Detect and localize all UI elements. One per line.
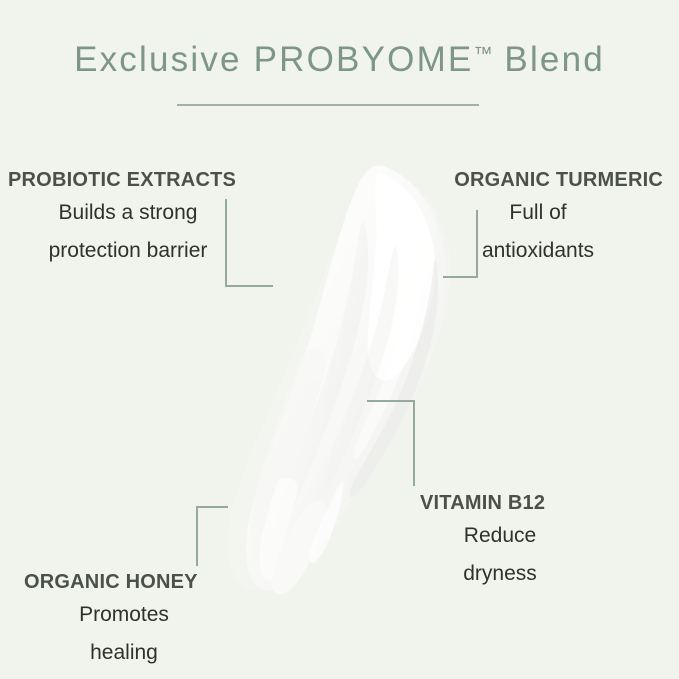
page-title-prefix: Exclusive PROBYOME [74, 40, 473, 79]
callout-vitamin-b12: VITAMIN B12 Reduce dryness [420, 491, 580, 591]
callout-heading: PROBIOTIC EXTRACTS [8, 168, 248, 192]
trademark-symbol: ™ [473, 44, 492, 65]
callout-body-line-2: healing [24, 636, 224, 670]
callout-heading: VITAMIN B12 [420, 491, 580, 515]
connector-segment-vertical [196, 506, 198, 566]
page-title-suffix: Blend [492, 40, 604, 79]
callout-body-line-1: Promotes [24, 598, 224, 632]
connector-segment-horizontal [225, 285, 273, 287]
callout-body-line-2: antioxidants [413, 234, 663, 268]
connector-segment-horizontal [443, 276, 478, 278]
ingredient-infographic: Exclusive PROBYOME™ Blend [0, 0, 679, 679]
connector-line-vitamin-b12 [367, 400, 417, 488]
callout-heading: ORGANIC TURMERIC [413, 168, 663, 192]
callout-heading: ORGANIC HONEY [24, 570, 224, 594]
connector-segment-vertical [413, 400, 415, 486]
callout-body-line-1: Builds a strong [8, 196, 248, 230]
callout-organic-turmeric: ORGANIC TURMERIC Full of antioxidants [413, 168, 663, 268]
callout-body-line-1: Reduce [420, 519, 580, 553]
callout-body-line-2: dryness [420, 557, 580, 591]
connector-segment-horizontal [367, 400, 415, 402]
callout-body-line-1: Full of [413, 196, 663, 230]
connector-segment-horizontal [196, 506, 228, 508]
page-title: Exclusive PROBYOME™ Blend [0, 40, 679, 80]
title-divider [177, 104, 479, 106]
callout-body-line-2: protection barrier [8, 234, 248, 268]
callout-probiotic-extracts: PROBIOTIC EXTRACTS Builds a strong prote… [8, 168, 248, 268]
connector-line-organic-honey [196, 506, 230, 568]
callout-organic-honey: ORGANIC HONEY Promotes healing [24, 570, 224, 670]
